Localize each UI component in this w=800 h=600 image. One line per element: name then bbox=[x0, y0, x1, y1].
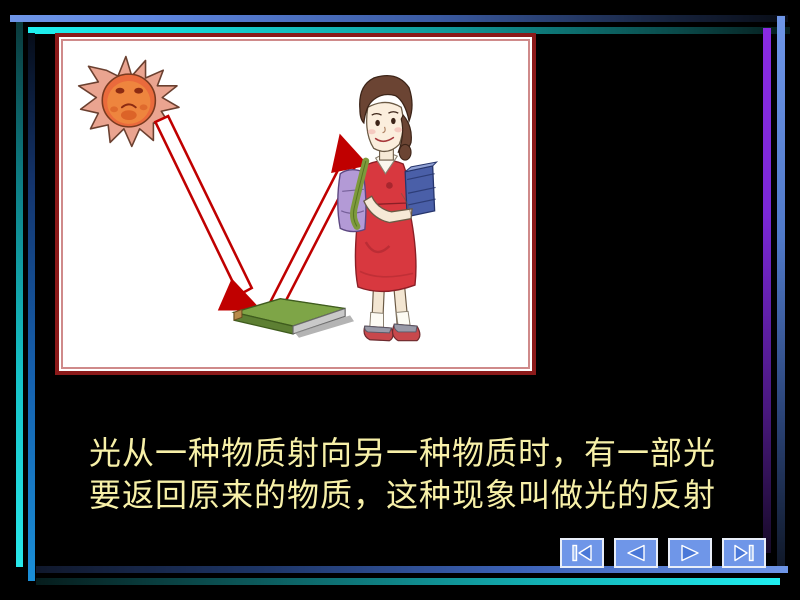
skip-forward-icon bbox=[731, 543, 757, 563]
bottom-cyan-accent-bar bbox=[36, 578, 780, 585]
left-cyan-accent-bar bbox=[16, 22, 23, 567]
previous-icon bbox=[623, 543, 649, 563]
first-slide-button[interactable] bbox=[560, 538, 604, 568]
presentation-slide: 光从一种物质射向另一种物质时，有一部光 要返回原来的物质，这种现象叫做光的反射 bbox=[0, 0, 800, 600]
light-reflection-diagram bbox=[59, 37, 532, 371]
last-slide-button[interactable] bbox=[722, 538, 766, 568]
left-blue-accent-bar bbox=[28, 33, 35, 581]
next-icon bbox=[677, 543, 703, 563]
caption-line-1: 光从一种物质射向另一种物质时，有一部光 bbox=[45, 432, 760, 474]
right-purple-accent-bar bbox=[763, 28, 771, 553]
top-blue-accent-bar bbox=[10, 15, 788, 22]
illustration-panel bbox=[55, 33, 536, 375]
schoolgirl-figure bbox=[338, 76, 437, 341]
caption-line-2: 要返回原来的物质，这种现象叫做光的反射 bbox=[45, 474, 760, 516]
previous-slide-button[interactable] bbox=[614, 538, 658, 568]
right-blue-accent-bar bbox=[777, 16, 785, 568]
slide-navigation-bar bbox=[560, 538, 766, 568]
skip-back-icon bbox=[569, 543, 595, 563]
next-slide-button[interactable] bbox=[668, 538, 712, 568]
incident-ray-arrow bbox=[155, 116, 259, 309]
slide-caption: 光从一种物质射向另一种物质时，有一部光 要返回原来的物质，这种现象叫做光的反射 bbox=[45, 432, 760, 516]
